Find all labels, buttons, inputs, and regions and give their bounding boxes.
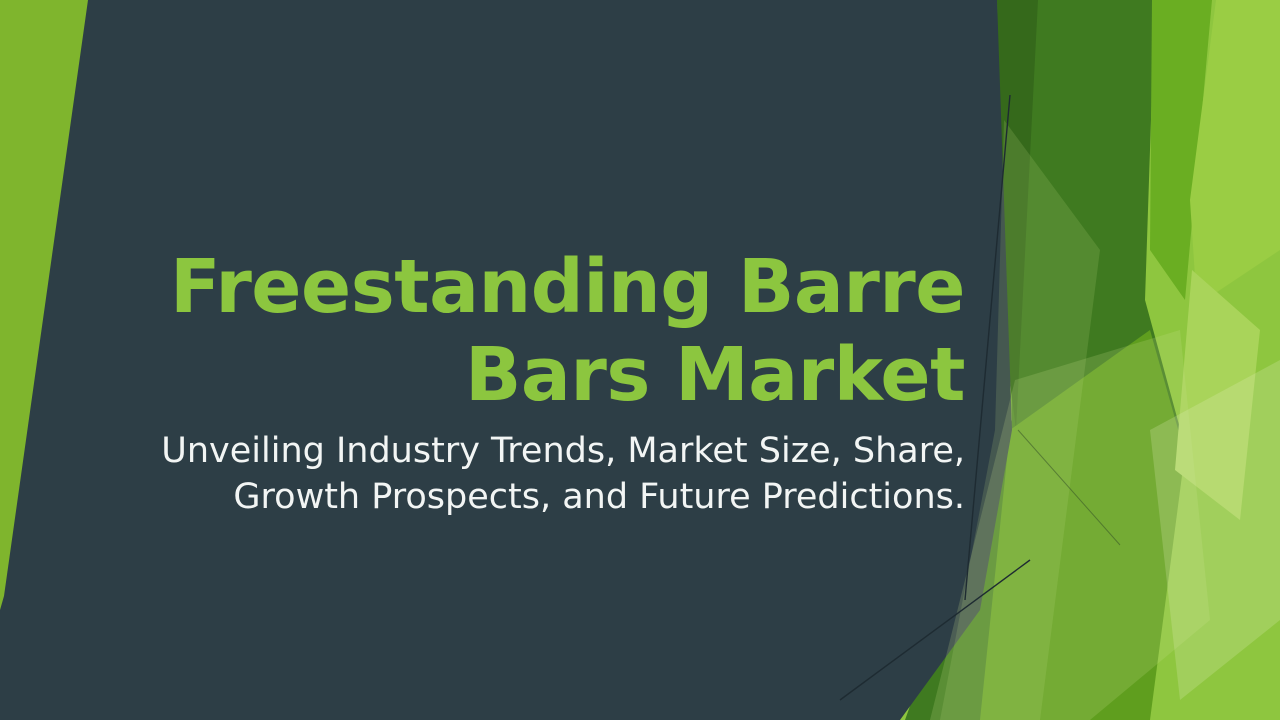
title-line-2: Bars Market [120,331,965,419]
page-title: Freestanding Barre Bars Market [120,243,965,419]
subtitle-line-2: Growth Prospects, and Future Predictions… [120,474,965,520]
subtitle-line-1: Unveiling Industry Trends, Market Size, … [120,428,965,474]
slide-text-layer: Freestanding Barre Bars Market Unveiling… [0,0,1280,720]
page-subtitle: Unveiling Industry Trends, Market Size, … [120,428,965,520]
title-line-1: Freestanding Barre [120,243,965,331]
title-slide: Freestanding Barre Bars Market Unveiling… [0,0,1280,720]
